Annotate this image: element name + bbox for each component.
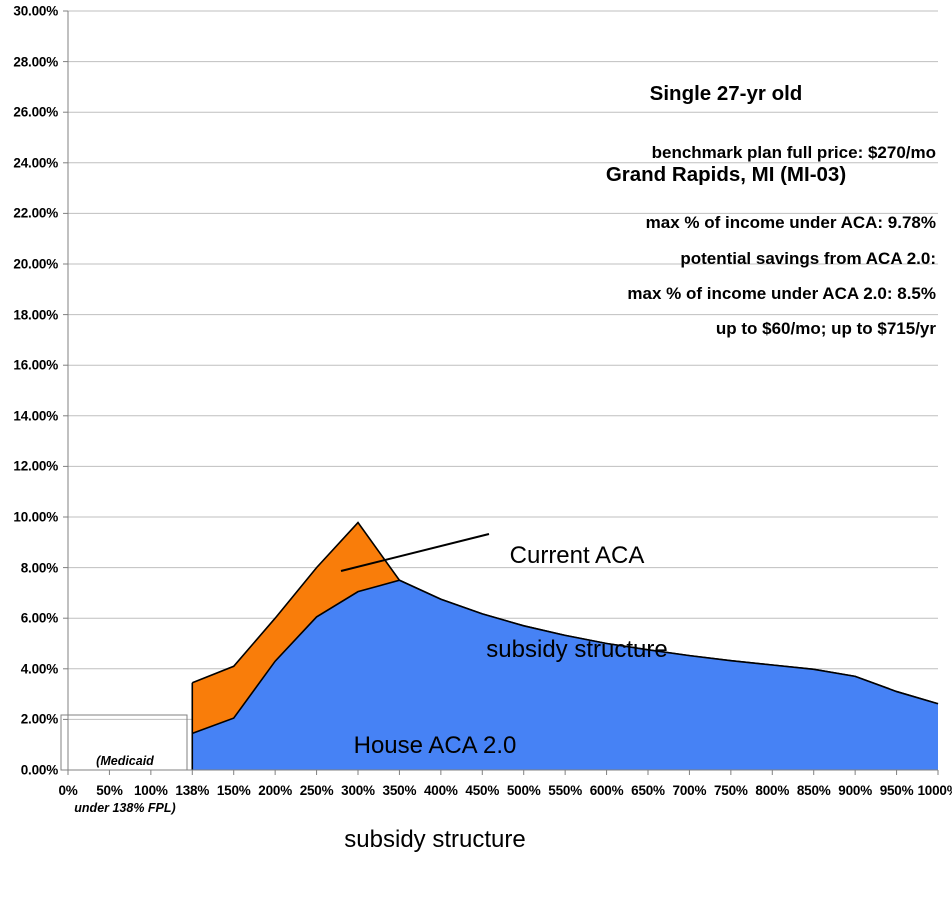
x-tick-label: 150% <box>217 783 251 798</box>
savings-heading: potential savings from ACA 2.0: <box>516 247 936 270</box>
callout-current-aca-line2: subsidy structure <box>432 634 722 665</box>
medicaid-note-line1: (Medicaid <box>64 754 186 770</box>
chart-container: 0.00%2.00%4.00%6.00%8.00%10.00%12.00%14.… <box>0 0 952 808</box>
x-tick-label: 750% <box>714 783 748 798</box>
x-tick-label: 800% <box>755 783 789 798</box>
x-tick-label: 950% <box>880 783 914 798</box>
medicaid-note: (Medicaid under 138% FPL) <box>64 723 186 848</box>
x-tick-label: 650% <box>631 783 665 798</box>
x-tick-label: 1000% <box>917 783 952 798</box>
x-tick-label: 200% <box>258 783 292 798</box>
x-tick-label: 850% <box>797 783 831 798</box>
savings-annotation: potential savings from ACA 2.0: up to $6… <box>516 200 936 388</box>
callout-house-aca20: House ACA 2.0 subsidy structure <box>300 668 570 918</box>
callout-house-aca20-line1: House ACA 2.0 <box>300 730 570 761</box>
savings-amounts: up to $60/mo; up to $715/yr <box>516 317 936 340</box>
callout-current-aca-line1: Current ACA <box>432 540 722 571</box>
medicaid-note-line2: under 138% FPL) <box>64 801 186 817</box>
x-tick-label: 900% <box>838 783 872 798</box>
callout-house-aca20-line2: subsidy structure <box>300 824 570 855</box>
x-tick-label: 600% <box>590 783 624 798</box>
fact-benchmark-price: benchmark plan full price: $270/mo <box>516 141 936 164</box>
x-tick-label: 700% <box>673 783 707 798</box>
